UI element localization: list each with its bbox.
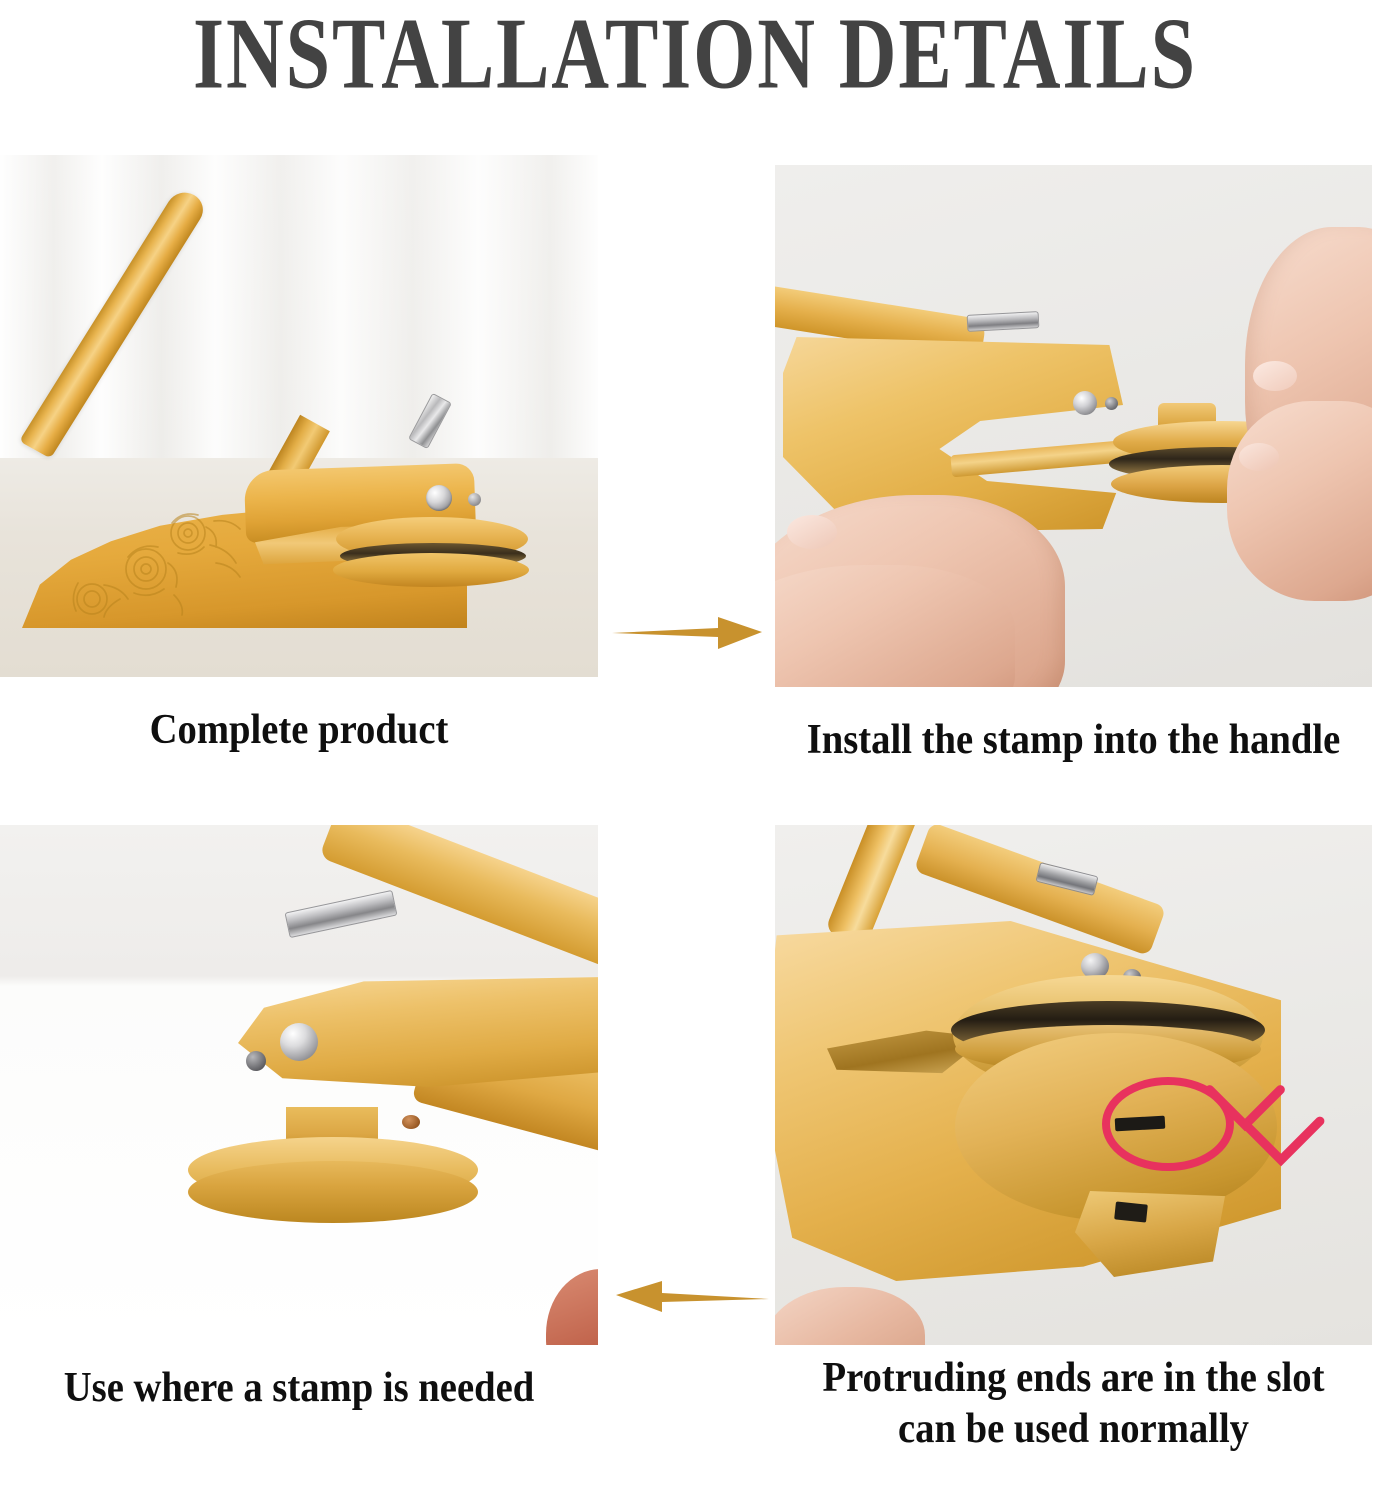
caption-line-1: Protruding ends are in the slot <box>799 1353 1348 1404</box>
metal-clip <box>408 393 452 449</box>
pivot-rivet <box>280 1023 318 1061</box>
finger <box>546 1269 598 1345</box>
fingernail <box>1239 443 1279 471</box>
embosser-illustration <box>0 155 598 677</box>
caption-line-2: can be used normally <box>799 1404 1348 1455</box>
secondary-rivet <box>246 1051 266 1071</box>
fingernail <box>1253 361 1297 391</box>
metal-clip <box>284 890 397 938</box>
protruding-end-lower <box>1114 1201 1148 1222</box>
step-card-install-stamp: Install the stamp into the handle <box>775 165 1372 687</box>
protruding-end-upper <box>1115 1116 1166 1132</box>
stamp-die-bottom-disc <box>333 553 529 587</box>
photo-protruding-ends <box>775 825 1372 1345</box>
step-caption-protruding-ends: Protruding ends are in the slot can be u… <box>799 1353 1348 1455</box>
thumbnail <box>787 515 837 549</box>
photo-use-stamp <box>0 825 598 1345</box>
step-card-use-stamp: Use where a stamp is needed <box>0 825 598 1345</box>
page-title: INSTALLATION DETAILS <box>49 0 1342 104</box>
slot-lip <box>1075 1191 1225 1277</box>
photo-complete-product <box>0 155 598 677</box>
pivot-rivet <box>1073 391 1097 415</box>
install-illustration <box>775 165 1372 687</box>
secondary-rivet <box>1105 397 1118 410</box>
step-card-protruding-ends: Protruding ends are in the slot can be u… <box>775 825 1372 1345</box>
metal-clip <box>967 311 1040 332</box>
thumb <box>775 1287 925 1345</box>
step-caption-install-stamp: Install the stamp into the handle <box>799 715 1348 766</box>
secondary-rivet <box>468 493 481 506</box>
pivot-rivet <box>426 485 452 511</box>
closeup-illustration <box>775 825 1372 1345</box>
floral-engraving <box>60 503 265 618</box>
step-caption-use-stamp: Use where a stamp is needed <box>24 1363 574 1414</box>
photo-install-stamp <box>775 165 1372 687</box>
left-hand-fingers <box>775 565 1015 687</box>
copper-rivet <box>402 1115 420 1129</box>
use-illustration <box>0 825 598 1345</box>
flow-arrow-left-icon <box>606 1255 771 1325</box>
die-base-bottom <box>188 1161 478 1223</box>
flow-arrow-right-icon <box>610 595 770 665</box>
handle-lever <box>19 186 210 458</box>
step-card-complete-product: Complete product <box>0 155 598 677</box>
right-hand-fingers <box>1227 401 1372 601</box>
step-caption-complete-product: Complete product <box>24 705 574 756</box>
installation-steps-grid: Complete product <box>0 155 1390 1500</box>
